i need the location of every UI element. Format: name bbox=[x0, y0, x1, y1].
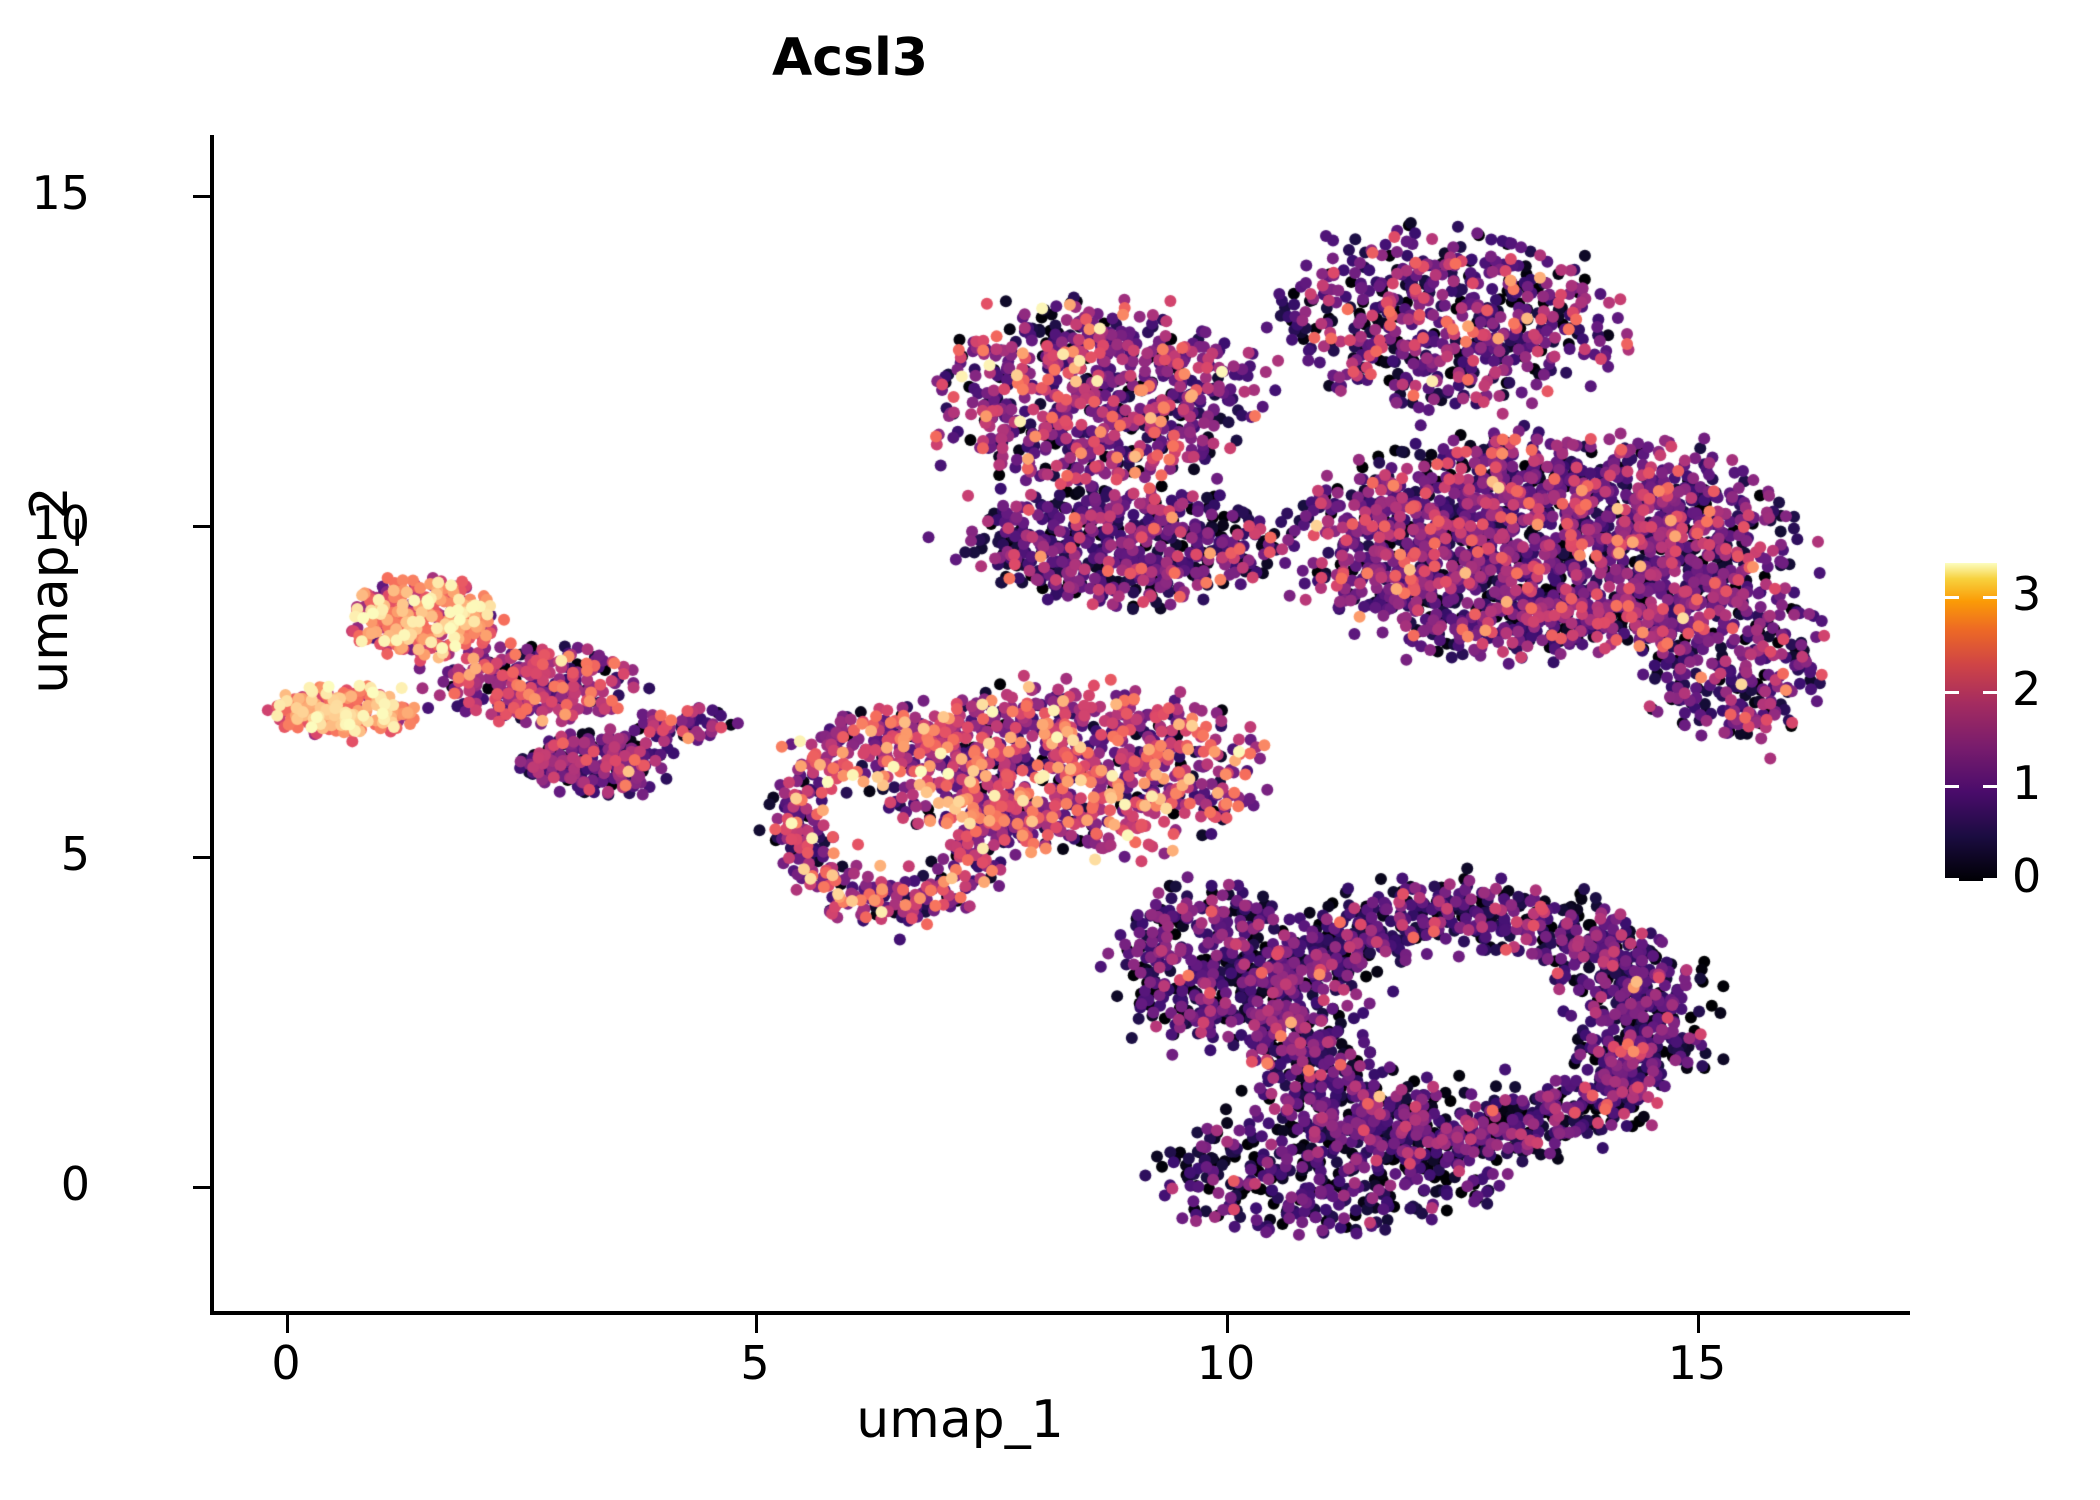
colorbar-tick-1-right bbox=[1983, 785, 1997, 788]
colorbar-tick-3-right bbox=[1983, 596, 1997, 599]
x-tick-mark-15 bbox=[1697, 1315, 1700, 1333]
y-tick-mark-10 bbox=[193, 525, 211, 528]
y-tick-label-15: 15 bbox=[0, 170, 90, 216]
colorbar-tick-0-right bbox=[1983, 878, 1997, 881]
x-tick-mark-5 bbox=[755, 1315, 758, 1333]
y-tick-mark-5 bbox=[193, 856, 211, 859]
colorbar-tick-3-left bbox=[1945, 596, 1959, 599]
x-tick-mark-0 bbox=[286, 1315, 289, 1333]
colorbar-tick-1-left bbox=[1945, 785, 1959, 788]
scatter-points-canvas bbox=[214, 135, 1910, 1311]
x-axis-label: umap_1 bbox=[560, 1390, 1360, 1450]
colorbar-label-3: 3 bbox=[2012, 571, 2100, 617]
x-tick-label-10: 10 bbox=[1156, 1340, 1296, 1386]
x-tick-label-0: 0 bbox=[216, 1340, 356, 1386]
colorbar-tick-2-right bbox=[1983, 691, 1997, 694]
x-tick-label-15: 15 bbox=[1627, 1340, 1767, 1386]
chart-title: Acsl3 bbox=[0, 28, 1700, 88]
figure-canvas: Acsl3 15 10 5 0 0 5 10 15 umap_2 umap_1 … bbox=[0, 0, 2100, 1500]
x-tick-mark-10 bbox=[1226, 1315, 1229, 1333]
scatter-plot-area bbox=[214, 135, 1910, 1311]
colorbar-label-2: 2 bbox=[2012, 666, 2100, 712]
x-axis-spine bbox=[210, 1311, 1910, 1315]
y-tick-mark-15 bbox=[193, 195, 211, 198]
y-tick-label-0: 0 bbox=[0, 1161, 90, 1207]
colorbar-label-1: 1 bbox=[2012, 760, 2100, 806]
colorbar bbox=[1945, 563, 1997, 881]
x-tick-label-5: 5 bbox=[685, 1340, 825, 1386]
y-tick-mark-0 bbox=[193, 1186, 211, 1189]
y-axis-label: umap_2 bbox=[20, 240, 80, 940]
colorbar-tick-0-left bbox=[1945, 878, 1959, 881]
colorbar-tick-2-left bbox=[1945, 691, 1959, 694]
colorbar-label-0: 0 bbox=[2012, 853, 2100, 899]
